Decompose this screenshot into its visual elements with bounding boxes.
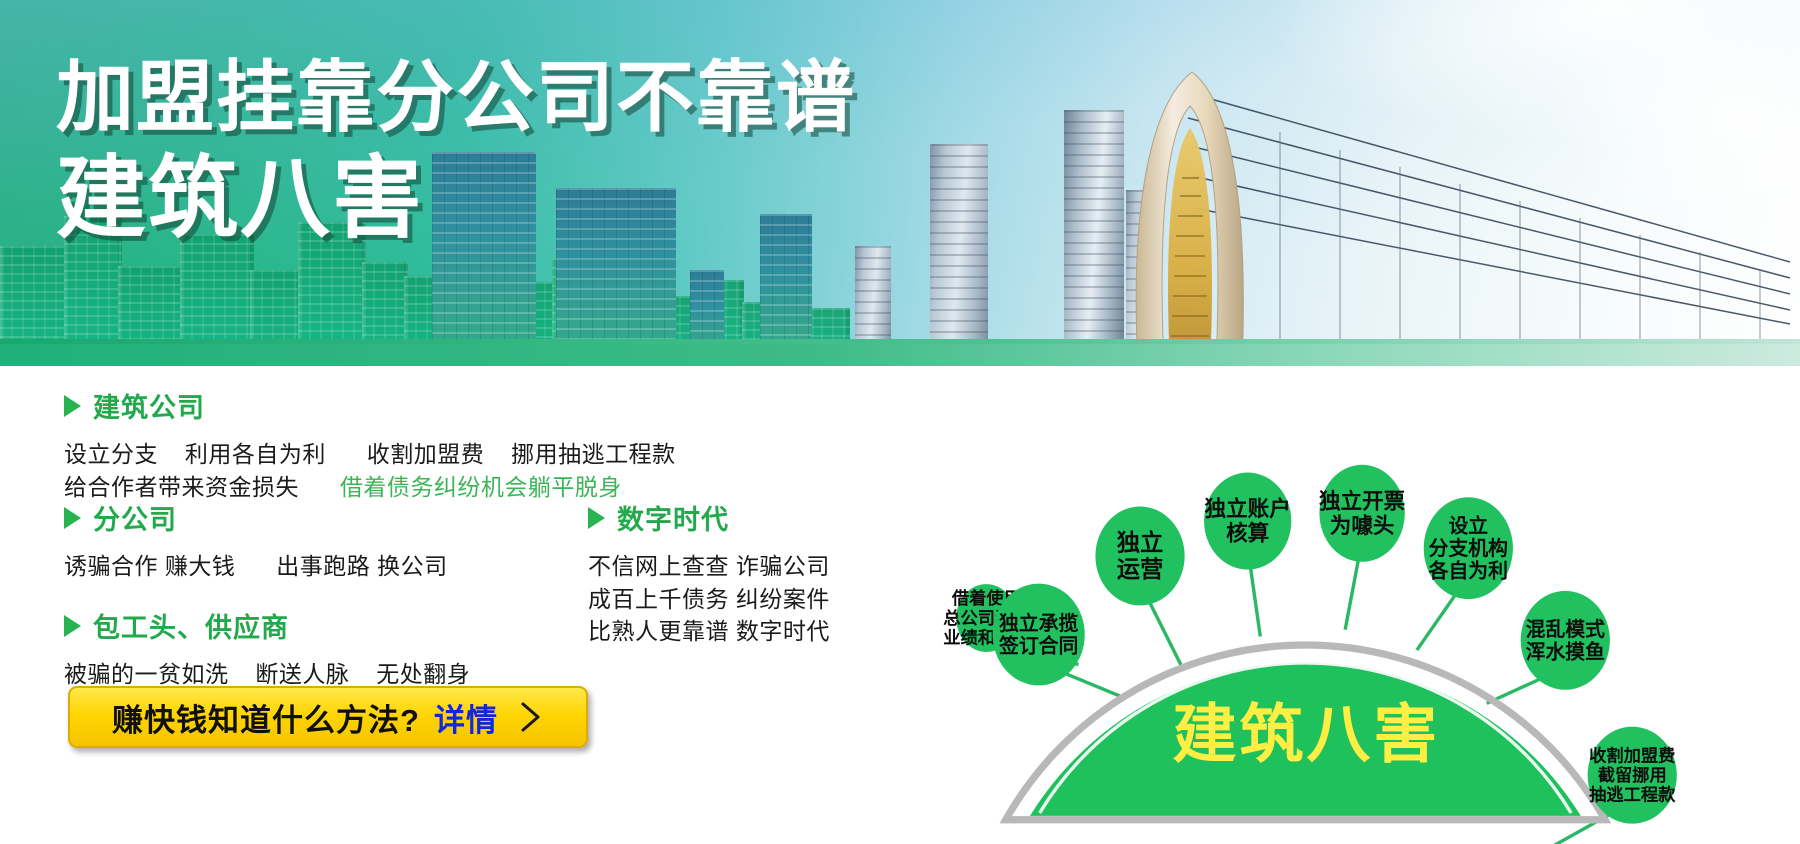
text-row: 诱骗合作 赚大钱 出事跑路 换公司: [64, 550, 448, 583]
section-header: 建筑公司: [64, 386, 676, 425]
section-construction-company: 建筑公司 设立分支 利用各自为利 收割加盟费 挪用抽逃工程款 给合作者带来资金损…: [64, 386, 676, 503]
bubble-label-line: 独立承揽: [999, 612, 1079, 635]
bubble-label-line: 各自为利: [1428, 560, 1508, 583]
bubble-2[interactable]: 独立承揽签订合同: [993, 584, 1085, 686]
text-row: 比熟人更靠谱 数字时代: [588, 615, 830, 648]
hero-title-line-1: 加盟挂靠分公司不靠谱: [56, 58, 856, 138]
bubble-label-line: 抽逃工程款: [1589, 785, 1676, 805]
bubble-label-line: 截留挪用: [1598, 765, 1667, 785]
hero-banner: 加盟挂靠分公司不靠谱 建筑八害: [0, 0, 1800, 366]
cta-button[interactable]: 赚快钱知道什么方法? 详情: [68, 686, 588, 748]
diagram-canvas: 建筑八害 借着使用总公司资质业绩和荣誉独立承揽签订合同独立运营独立账户核算独立开…: [900, 330, 1800, 844]
bubble-5[interactable]: 独立开票为噱头: [1319, 465, 1405, 562]
section-header: 包工头、供应商: [64, 606, 470, 645]
bubble-label-line: 签订合同: [998, 635, 1078, 658]
bubble-label-line: 浑水摸鱼: [1526, 640, 1606, 663]
triangle-bullet-icon: [64, 615, 81, 637]
section-contractor-supplier: 包工头、供应商 被骗的一贫如洗 断送人脉 无处翻身: [64, 606, 470, 691]
bubble-label-line: 分支机构: [1429, 537, 1508, 560]
chevron-right-icon: [518, 700, 544, 734]
bubble-label-line: 独立开票: [1319, 488, 1405, 513]
bubble-6[interactable]: 设立分支机构各自为利: [1424, 497, 1513, 599]
triangle-bullet-icon: [588, 507, 605, 529]
bubble-label-line: 独立: [1117, 529, 1164, 556]
bubble-label-line: 收割加盟费: [1589, 745, 1675, 765]
section-body: 诱骗合作 赚大钱 出事跑路 换公司: [64, 550, 448, 583]
bubble-label-line: 独立账户: [1205, 496, 1291, 521]
section-branch-company: 分公司 诱骗合作 赚大钱 出事跑路 换公司: [64, 498, 448, 583]
triangle-bullet-icon: [64, 507, 81, 529]
bubble-3[interactable]: 独立运营: [1095, 507, 1184, 606]
triangle-bullet-icon: [64, 395, 81, 417]
hero-title-line-2: 建筑八害: [56, 154, 856, 246]
cta-detail-link[interactable]: 详情: [434, 695, 498, 740]
left-content-column: 建筑公司 设立分支 利用各自为利 收割加盟费 挪用抽逃工程款 给合作者带来资金损…: [0, 386, 900, 844]
section-body: 不信网上查查 诈骗公司 成百上千债务 纠纷案件 比熟人更靠谱 数字时代: [588, 550, 830, 648]
bubble-8[interactable]: 收割加盟费截留挪用抽逃工程款: [1588, 727, 1677, 824]
bubble-label-line: 为噱头: [1330, 513, 1395, 538]
section-body: 设立分支 利用各自为利 收割加盟费 挪用抽逃工程款 给合作者带来资金损失 借着债…: [64, 438, 676, 503]
eight-harms-diagram: 建筑八害 借着使用总公司资质业绩和荣誉独立承揽签订合同独立运营独立账户核算独立开…: [900, 330, 1800, 844]
bubble-label-line: 核算: [1226, 521, 1269, 546]
dome-center-label: 建筑八害: [1173, 699, 1441, 771]
tower-tall: [1064, 110, 1124, 366]
section-digital-era: 数字时代 不信网上查查 诈骗公司 成百上千债务 纠纷案件 比熟人更靠谱 数字时代: [588, 498, 830, 648]
hero-title: 加盟挂靠分公司不靠谱 建筑八害: [56, 58, 856, 245]
section-title: 数字时代: [617, 498, 729, 537]
text-row: 不信网上查查 诈骗公司: [588, 550, 830, 583]
poster-root: 加盟挂靠分公司不靠谱 建筑八害 建筑公司 设立分支 利用各自为利 收割加盟费 挪…: [0, 0, 1800, 844]
section-header: 分公司: [64, 498, 448, 537]
bubble-4[interactable]: 独立账户核算: [1204, 473, 1291, 570]
text-row: 设立分支 利用各自为利 收割加盟费 挪用抽逃工程款: [64, 438, 676, 471]
bubble-label-line: 混乱模式: [1526, 618, 1606, 641]
section-title: 分公司: [93, 498, 177, 537]
bridge-illustration: [1130, 66, 1800, 366]
bubble-7[interactable]: 混乱模式浑水摸鱼: [1521, 591, 1610, 690]
text-row: 成百上千债务 纠纷案件: [588, 583, 830, 616]
highlighted-text: 借着债务纠纷机会躺平脱身: [340, 474, 622, 500]
section-title: 包工头、供应商: [93, 606, 289, 645]
section-header: 数字时代: [588, 498, 830, 537]
section-title: 建筑公司: [93, 386, 205, 425]
bubble-label-line: 运营: [1117, 556, 1164, 582]
cta-question-text: 赚快钱知道什么方法?: [112, 695, 420, 740]
bubble-label-line: 设立: [1448, 514, 1488, 537]
